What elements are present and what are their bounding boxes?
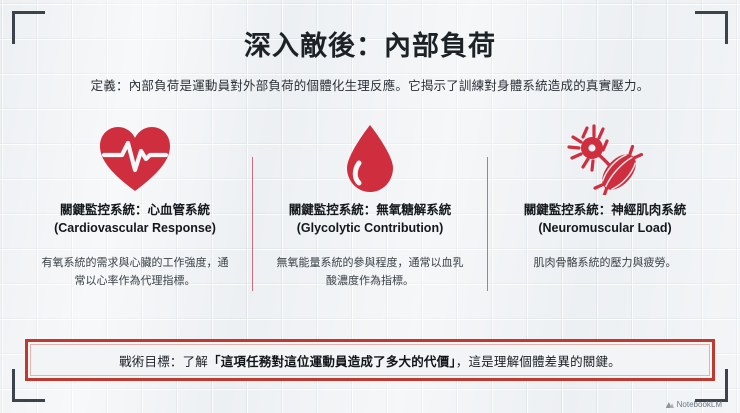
banner-highlight: 「這項任務對這位運動員造成了多大的代價」 xyxy=(208,355,456,369)
column-description: 肌肉骨骼系統的壓力與疲勞。 xyxy=(534,254,677,272)
column-heading: 關鍵監控系統：無氧糖解系統 (Glycolytic Contribution) xyxy=(289,202,452,238)
column-heading-zh: 關鍵監控系統：無氧糖解系統 xyxy=(289,203,452,217)
column-heading-zh: 關鍵監控系統：神經肌肉系統 xyxy=(524,203,687,217)
column-heading-en: (Cardiovascular Response) xyxy=(54,220,216,238)
column-heading-zh: 關鍵監控系統：心血管系統 xyxy=(60,203,210,217)
tactical-goal-text: 戰術目標：了解「這項任務對這位運動員造成了多大的代價」，這是理解個體差異的關鍵。 xyxy=(119,351,621,370)
heart-pulse-icon xyxy=(98,118,172,200)
column-cardiovascular: 關鍵監控系統：心血管系統 (Cardiovascular Response) 有… xyxy=(18,118,252,330)
corner-bracket-top-right xyxy=(695,11,728,44)
blood-drop-icon xyxy=(343,118,397,200)
column-neuromuscular: 關鍵監控系統：神經肌肉系統 (Neuromuscular Load) 肌肉骨骼系… xyxy=(488,118,722,330)
column-description: 無氧能量系統的參與程度，通常以血乳酸濃度作為指標。 xyxy=(275,254,465,290)
column-heading-en: (Neuromuscular Load) xyxy=(524,220,687,238)
column-heading: 關鍵監控系統：神經肌肉系統 (Neuromuscular Load) xyxy=(524,202,687,238)
notebooklm-watermark: NotebookLM xyxy=(665,400,722,409)
corner-bracket-top-left xyxy=(12,11,45,44)
notebooklm-logo-icon xyxy=(665,401,674,409)
column-glycolytic: 關鍵監控系統：無氧糖解系統 (Glycolytic Contribution) … xyxy=(253,118,487,330)
tactical-goal-banner: 戰術目標：了解「這項任務對這位運動員造成了多大的代價」，這是理解個體差異的關鍵。 xyxy=(25,339,715,381)
column-heading-en: (Glycolytic Contribution) xyxy=(289,220,452,238)
slide-canvas: 深入敵後：內部負荷 定義：內部負荷是運動員對外部負荷的個體化生理反應。它揭示了訓… xyxy=(0,0,740,413)
banner-prefix: 戰術目標：了解 xyxy=(119,355,208,369)
slide-title: 深入敵後：內部負荷 xyxy=(0,24,740,63)
neuron-muscle-icon xyxy=(563,118,647,200)
corner-bracket-bottom-right xyxy=(695,369,728,402)
banner-suffix: ，這是理解個體差異的關鍵。 xyxy=(456,355,621,369)
systems-columns: 關鍵監控系統：心血管系統 (Cardiovascular Response) 有… xyxy=(18,118,722,330)
column-heading: 關鍵監控系統：心血管系統 (Cardiovascular Response) xyxy=(54,202,216,238)
slide-definition: 定義：內部負荷是運動員對外部負荷的個體化生理反應。它揭示了訓練對身體系統造成的真… xyxy=(0,75,740,94)
notebooklm-label: NotebookLM xyxy=(677,400,722,409)
corner-bracket-bottom-left xyxy=(12,369,45,402)
column-description: 有氧系統的需求與心臟的工作強度，通常以心率作為代理指標。 xyxy=(40,254,230,290)
